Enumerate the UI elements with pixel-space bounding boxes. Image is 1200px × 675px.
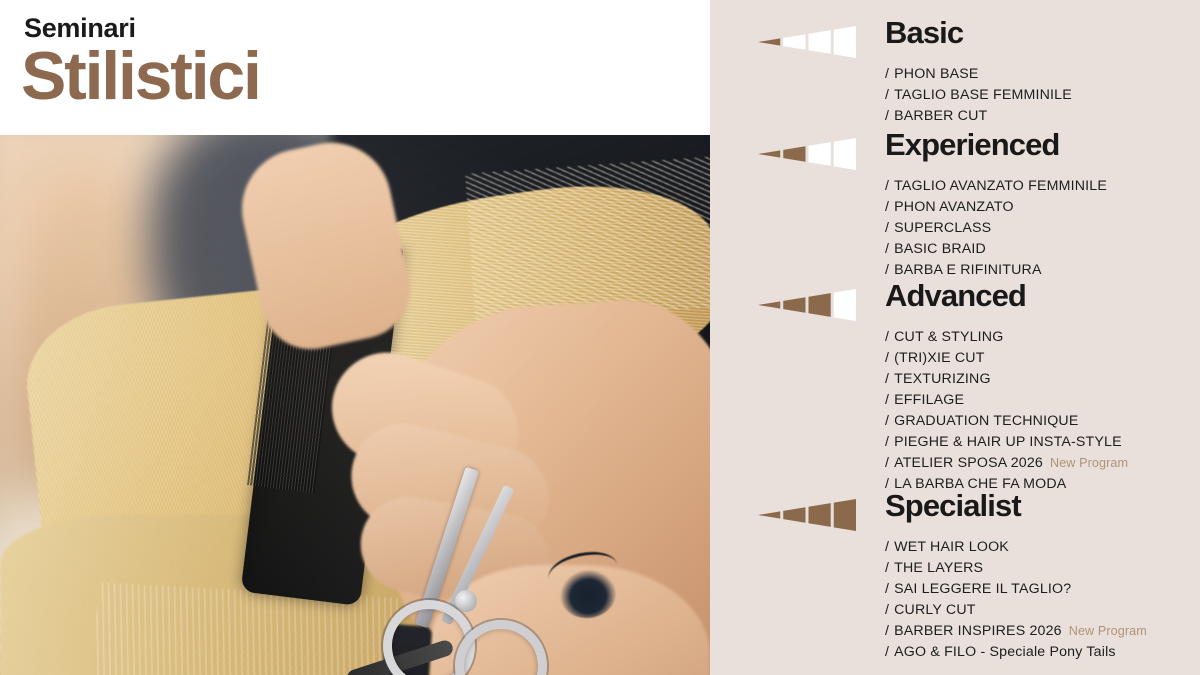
course-item-label: SUPERCLASS bbox=[894, 220, 991, 236]
course-item-label: THE LAYERS bbox=[894, 560, 983, 576]
level-title: Basic bbox=[885, 16, 963, 50]
course-item[interactable]: /SUPERCLASS bbox=[885, 218, 1200, 239]
level-header: Experienced bbox=[710, 130, 1200, 176]
course-item[interactable]: /AGO & FILO - Speciale Pony Tails bbox=[885, 642, 1200, 663]
photo-scissor-pivot bbox=[455, 590, 477, 612]
level-title: Experienced bbox=[885, 128, 1059, 162]
bullet-slash-icon: / bbox=[885, 87, 889, 103]
course-item[interactable]: /CUT & STYLING bbox=[885, 327, 1200, 348]
bullet-slash-icon: / bbox=[885, 66, 889, 82]
course-item-label: TEXTURIZING bbox=[894, 371, 991, 387]
course-item-label: EFFILAGE bbox=[894, 392, 964, 408]
course-item-label: GRADUATION TECHNIQUE bbox=[894, 413, 1078, 429]
course-list: /PHON BASE/TAGLIO BASE FEMMINILE/BARBER … bbox=[885, 64, 1200, 127]
bullet-slash-icon: / bbox=[885, 392, 889, 408]
bullet-slash-icon: / bbox=[885, 220, 889, 236]
bullet-slash-icon: / bbox=[885, 581, 889, 597]
course-levels-panel: Basic/PHON BASE/TAGLIO BASE FEMMINILE/BA… bbox=[710, 0, 1200, 675]
course-item[interactable]: /(TRI)XIE CUT bbox=[885, 348, 1200, 369]
course-item[interactable]: /ATELIER SPOSA 2026New Program bbox=[885, 453, 1200, 474]
course-item[interactable]: /CURLY CUT bbox=[885, 600, 1200, 621]
bullet-slash-icon: / bbox=[885, 108, 889, 124]
slide-root: Seminari Stilistici bbox=[0, 0, 1200, 675]
course-item[interactable]: /TEXTURIZING bbox=[885, 369, 1200, 390]
course-item[interactable]: /TAGLIO BASE FEMMINILE bbox=[885, 85, 1200, 106]
course-item[interactable]: /GRADUATION TECHNIQUE bbox=[885, 411, 1200, 432]
course-item-label: PHON AVANZATO bbox=[894, 199, 1014, 215]
course-item[interactable]: /PHON AVANZATO bbox=[885, 197, 1200, 218]
level-header: Advanced bbox=[710, 281, 1200, 327]
bullet-slash-icon: / bbox=[885, 329, 889, 345]
level-title: Specialist bbox=[885, 489, 1021, 523]
new-program-badge: New Program bbox=[1050, 456, 1128, 470]
rank-chevron-icon bbox=[758, 289, 856, 321]
left-column: Seminari Stilistici bbox=[0, 0, 710, 675]
course-item-label: PHON BASE bbox=[894, 66, 978, 82]
title-block: Seminari Stilistici bbox=[0, 0, 710, 135]
course-item-label: (TRI)XIE CUT bbox=[894, 350, 984, 366]
bullet-slash-icon: / bbox=[885, 178, 889, 194]
course-item-label: WET HAIR LOOK bbox=[894, 539, 1009, 555]
bullet-slash-icon: / bbox=[885, 455, 889, 471]
bullet-slash-icon: / bbox=[885, 434, 889, 450]
course-item[interactable]: /SAI LEGGERE IL TAGLIO? bbox=[885, 579, 1200, 600]
course-item[interactable]: /BARBER INSPIRES 2026New Program bbox=[885, 621, 1200, 642]
level-group-specialist: Specialist/WET HAIR LOOK/THE LAYERS/SAI … bbox=[710, 491, 1200, 663]
course-item-label: TAGLIO BASE FEMMINILE bbox=[894, 87, 1072, 103]
bullet-slash-icon: / bbox=[885, 371, 889, 387]
level-header: Basic bbox=[710, 18, 1200, 64]
bullet-slash-icon: / bbox=[885, 623, 889, 639]
course-item-label: SAI LEGGERE IL TAGLIO? bbox=[894, 581, 1071, 597]
level-group-advanced: Advanced/CUT & STYLING/(TRI)XIE CUT/TEXT… bbox=[710, 281, 1200, 495]
bullet-slash-icon: / bbox=[885, 350, 889, 366]
course-item-label: TAGLIO AVANZATO FEMMINILE bbox=[894, 178, 1107, 194]
course-item[interactable]: /WET HAIR LOOK bbox=[885, 537, 1200, 558]
page-title: Stilistici bbox=[21, 44, 710, 109]
rank-chevron-icon bbox=[758, 26, 856, 58]
level-header: Specialist bbox=[710, 491, 1200, 537]
course-item[interactable]: /EFFILAGE bbox=[885, 390, 1200, 411]
level-title: Advanced bbox=[885, 279, 1026, 313]
bullet-slash-icon: / bbox=[885, 199, 889, 215]
course-item-label: ATELIER SPOSA 2026 bbox=[894, 455, 1043, 471]
course-list: /WET HAIR LOOK/THE LAYERS/SAI LEGGERE IL… bbox=[885, 537, 1200, 663]
course-item-label: CURLY CUT bbox=[894, 602, 976, 618]
course-item-label: BASIC BRAID bbox=[894, 241, 986, 257]
level-group-basic: Basic/PHON BASE/TAGLIO BASE FEMMINILE/BA… bbox=[710, 18, 1200, 127]
bullet-slash-icon: / bbox=[885, 262, 889, 278]
course-item-label: PIEGHE & HAIR UP INSTA-STYLE bbox=[894, 434, 1122, 450]
course-list: /TAGLIO AVANZATO FEMMINILE/PHON AVANZATO… bbox=[885, 176, 1200, 281]
bullet-slash-icon: / bbox=[885, 644, 889, 660]
course-item[interactable]: /PIEGHE & HAIR UP INSTA-STYLE bbox=[885, 432, 1200, 453]
rank-chevron-icon bbox=[758, 138, 856, 170]
course-list: /CUT & STYLING/(TRI)XIE CUT/TEXTURIZING/… bbox=[885, 327, 1200, 495]
bullet-slash-icon: / bbox=[885, 413, 889, 429]
rank-chevron-icon bbox=[758, 499, 856, 531]
course-item-label: BARBA E RIFINITURA bbox=[894, 262, 1042, 278]
level-group-experienced: Experienced/TAGLIO AVANZATO FEMMINILE/PH… bbox=[710, 130, 1200, 281]
hero-photo bbox=[0, 135, 710, 675]
course-item[interactable]: /BASIC BRAID bbox=[885, 239, 1200, 260]
course-item[interactable]: /PHON BASE bbox=[885, 64, 1200, 85]
course-item[interactable]: /THE LAYERS bbox=[885, 558, 1200, 579]
course-item-label: BARBER CUT bbox=[894, 108, 987, 124]
bullet-slash-icon: / bbox=[885, 602, 889, 618]
course-item-label: CUT & STYLING bbox=[894, 329, 1003, 345]
bullet-slash-icon: / bbox=[885, 539, 889, 555]
course-item[interactable]: /TAGLIO AVANZATO FEMMINILE bbox=[885, 176, 1200, 197]
bullet-slash-icon: / bbox=[885, 560, 889, 576]
course-item-label: AGO & FILO - Speciale Pony Tails bbox=[894, 644, 1116, 660]
bullet-slash-icon: / bbox=[885, 241, 889, 257]
new-program-badge: New Program bbox=[1069, 624, 1147, 638]
course-item-label: BARBER INSPIRES 2026 bbox=[894, 623, 1062, 639]
photo-hair-strands bbox=[465, 156, 710, 323]
course-item[interactable]: /BARBER CUT bbox=[885, 106, 1200, 127]
